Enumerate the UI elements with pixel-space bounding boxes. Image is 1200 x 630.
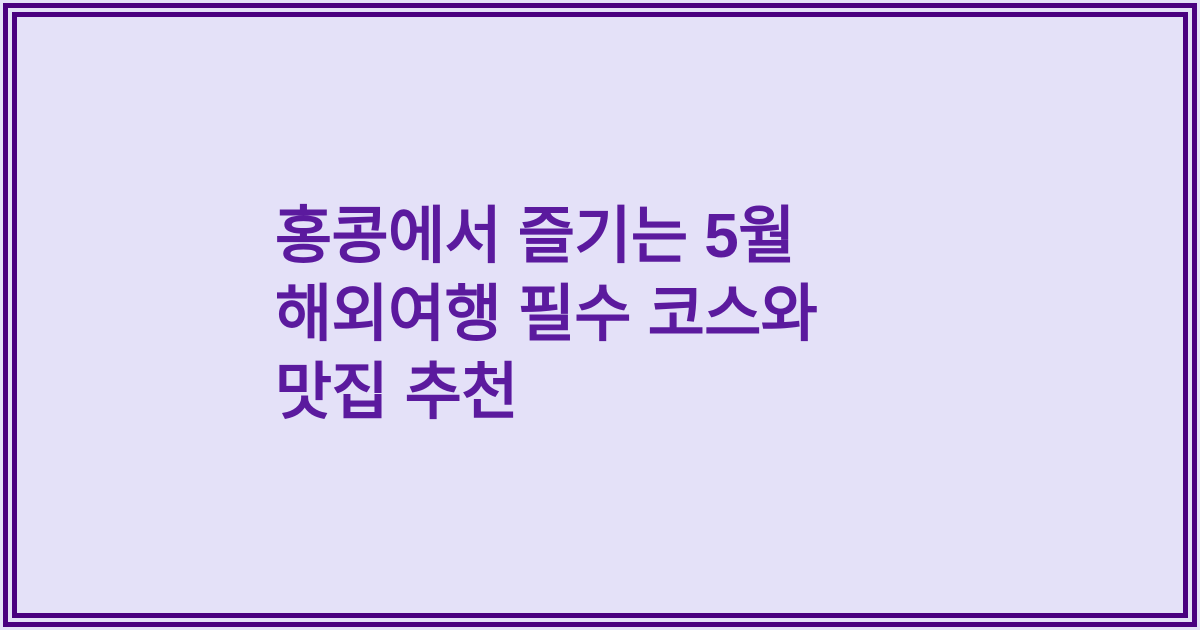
thumbnail-card: 홍콩에서 즐기는 5월 해외여행 필수 코스와 맛집 추천 — [0, 0, 1200, 630]
card-content: 홍콩에서 즐기는 5월 해외여행 필수 코스와 맛집 추천 — [0, 0, 1200, 630]
title-block: 홍콩에서 즐기는 5월 해외여행 필수 코스와 맛집 추천 — [275, 198, 1110, 432]
page-title: 홍콩에서 즐기는 5월 해외여행 필수 코스와 맛집 추천 — [275, 198, 1110, 432]
